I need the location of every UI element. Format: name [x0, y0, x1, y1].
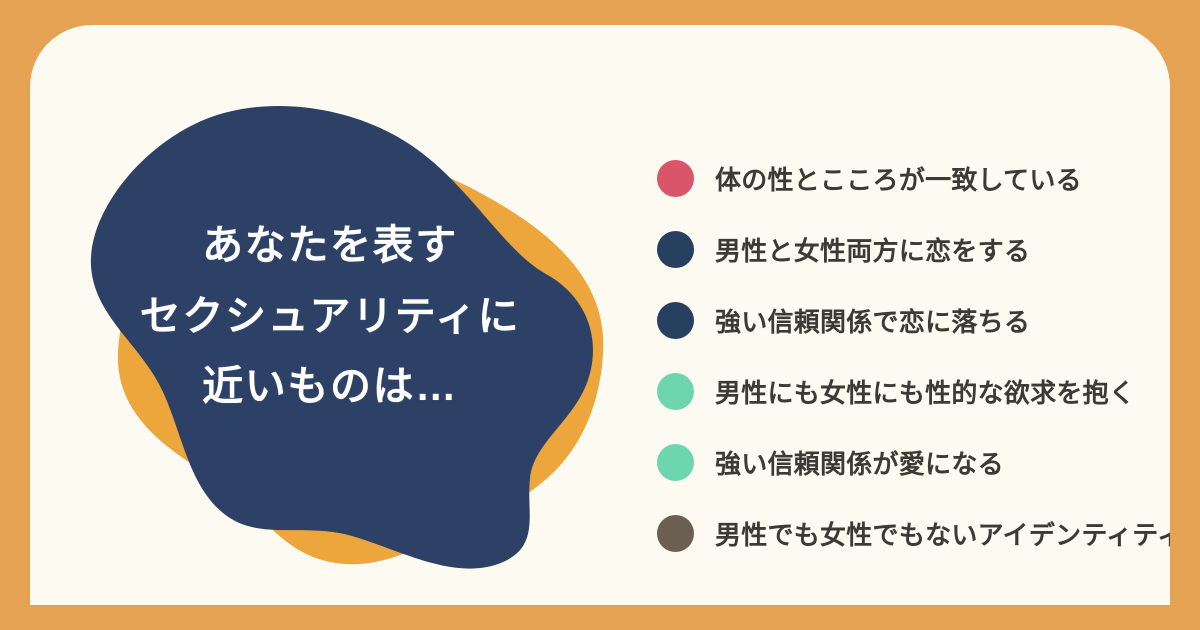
- legend-item-label: 強い信頼関係で恋に落ちる: [715, 302, 1030, 339]
- legend-dot-brown: [657, 515, 694, 552]
- legend-list: 体の性とこころが一致している 男性と女性両方に恋をする 強い信頼関係で恋に落ちる…: [657, 143, 1170, 569]
- poster-frame: あなたを表す セクシュアリティに 近いものは… 体の性とこころが一致している 男…: [0, 0, 1200, 630]
- list-item[interactable]: 男性でも女性でもないアイデンティティ: [657, 498, 1170, 569]
- list-item[interactable]: 体の性とこころが一致している: [657, 143, 1170, 214]
- legend-dot-navy-1: [657, 231, 694, 268]
- list-item[interactable]: 強い信頼関係で恋に落ちる: [657, 285, 1170, 356]
- legend-dot-navy-2: [657, 302, 694, 339]
- legend-dot-green-2: [657, 444, 694, 481]
- page-title: あなたを表す セクシュアリティに 近いものは…: [90, 210, 570, 422]
- legend-item-label: 体の性とこころが一致している: [715, 160, 1082, 197]
- legend-item-label: 男性にも女性にも性的な欲求を抱く: [715, 373, 1135, 410]
- legend-dot-pink: [657, 160, 694, 197]
- legend-item-label: 男性でも女性でもないアイデンティティ: [715, 515, 1170, 552]
- list-item[interactable]: 男性にも女性にも性的な欲求を抱く: [657, 356, 1170, 427]
- list-item[interactable]: 男性と女性両方に恋をする: [657, 214, 1170, 285]
- legend-item-label: 強い信頼関係が愛になる: [715, 444, 1004, 481]
- content-card: あなたを表す セクシュアリティに 近いものは… 体の性とこころが一致している 男…: [30, 25, 1170, 605]
- list-item[interactable]: 強い信頼関係が愛になる: [657, 427, 1170, 498]
- legend-dot-green-1: [657, 373, 694, 410]
- legend-item-label: 男性と女性両方に恋をする: [715, 231, 1030, 268]
